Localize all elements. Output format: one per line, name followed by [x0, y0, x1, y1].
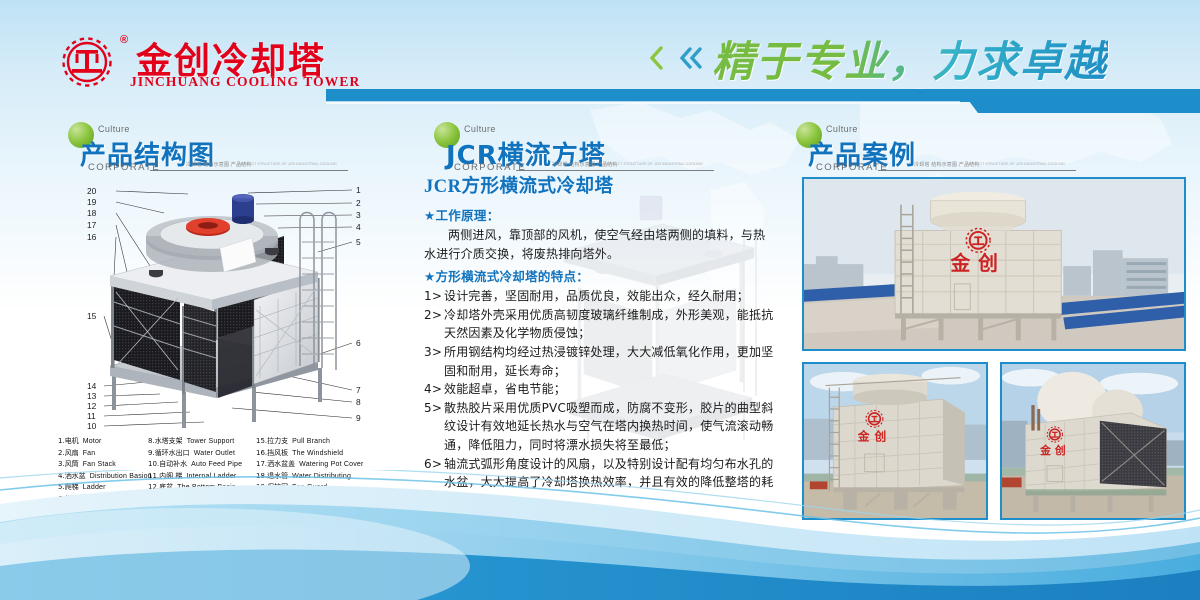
- parts-legend-name-en: Motor: [79, 438, 102, 445]
- brochure-page: ® 金创冷却塔 JINCHUANG COOLING TOWER 精于专业，力求卓…: [0, 0, 1200, 600]
- svg-text:17: 17: [87, 220, 97, 230]
- svg-text:1: 1: [356, 185, 361, 195]
- feature-text: 设计完善，坚固耐用，品质优良，效能出众，经久耐用；: [444, 287, 776, 306]
- svg-text:7: 7: [356, 385, 361, 395]
- header-divider-bar-step: [960, 89, 1200, 113]
- chevron-double-left-icon: [678, 45, 704, 71]
- parts-legend-name-en: Water Outlet: [190, 450, 235, 457]
- feature-item: 2>冷却塔外壳采用优质高韧度玻璃纤维制成，外形美观，能抵抗天然因素及化学物质侵蚀…: [424, 306, 776, 343]
- svg-text:9: 9: [356, 413, 361, 423]
- parts-legend-name-cn: 风筒: [65, 460, 79, 468]
- svg-text:14: 14: [87, 381, 97, 391]
- parts-legend-item: 9.循环水出口Water Outlet: [148, 448, 268, 460]
- parts-legend-item: 16.挡风板The Windshield: [256, 448, 376, 460]
- feature-item: 5>散热胶片采用优质PVC吸塑而成，防腐不变形，胶片的曲型斜纹设计有效地延长热水…: [424, 399, 776, 455]
- working-principle-text: 两侧进风，靠顶部的风机，使空气经由塔两侧的填料，与热水进行介质交换，将废热排向塔…: [424, 226, 776, 263]
- feature-item: 1>设计完善，坚固耐用，品质优良，效能出众，经久耐用；: [424, 287, 776, 306]
- photo-rooftop-illustration: 金创: [804, 179, 1184, 351]
- parts-legend-name-en: Auto Feed Pipe: [187, 461, 242, 468]
- feature-marker: 4>: [424, 380, 444, 399]
- parts-legend-name-cn: 电机: [65, 437, 79, 445]
- gear-emblem-icon: [58, 32, 118, 90]
- section-eyebrow: Culture: [826, 124, 858, 134]
- feature-text: 所用钢结构均经过热浸镀锌处理，大大减低氧化作用，更加坚固和耐用，延长寿命；: [444, 343, 776, 380]
- svg-text:3: 3: [356, 210, 361, 220]
- feature-marker: 1>: [424, 287, 444, 306]
- parts-legend-name-cn: 自动补水: [159, 460, 187, 468]
- section-heading-cases: Culture 产品案例 CORPORATE 冷却塔 结构示意图 产品结构 PR…: [786, 120, 1116, 176]
- parts-legend-name-en: Pull Branch: [288, 438, 330, 445]
- section-rule: [516, 170, 714, 171]
- svg-text:12: 12: [87, 401, 97, 411]
- working-principle-heading: ★工作原理：: [424, 205, 776, 224]
- parts-legend-number: 9.: [148, 449, 155, 457]
- svg-text:13: 13: [87, 391, 97, 401]
- parts-legend-item: 15.拉力支Pull Branch: [256, 436, 376, 448]
- parts-legend-name-en: Tower Support: [183, 438, 235, 445]
- parts-legend-name-cn: 循环水出口: [155, 449, 190, 457]
- chevron-left-icon: [648, 45, 664, 71]
- parts-legend-number: 10.: [148, 460, 159, 468]
- svg-text:15: 15: [87, 311, 97, 321]
- section-eyebrow: Culture: [98, 124, 130, 134]
- header-divider-highlight: [326, 101, 960, 104]
- page-header: ® 金创冷却塔 JINCHUANG COOLING TOWER 精于专业，力求卓…: [0, 0, 1200, 108]
- feature-text: 效能超卓，省电节能；: [444, 380, 776, 399]
- svg-text:金创: 金创: [1039, 444, 1069, 457]
- parts-legend-name-en: The Windshield: [288, 450, 343, 457]
- svg-text:6: 6: [356, 338, 361, 348]
- section-subline-small: PRODUCT STRUCTURE OF JCR INDUSTRIAL COOL…: [604, 162, 703, 166]
- feature-text: 冷却塔外壳采用优质高韧度玻璃纤维制成，外形美观，能抵抗天然因素及化学物质侵蚀；: [444, 306, 776, 343]
- parts-legend-name-en: Fan: [79, 450, 96, 457]
- svg-text:5: 5: [356, 237, 361, 247]
- svg-text:10: 10: [87, 421, 97, 430]
- svg-text:11: 11: [87, 411, 96, 421]
- parts-legend-name-cn: 风扇: [65, 449, 79, 457]
- parts-legend-name-en: Watering Pot Cover: [295, 461, 363, 468]
- svg-text:8: 8: [356, 397, 361, 407]
- features-heading: ★方形横流式冷却塔的特点：: [424, 266, 776, 285]
- jcr-main-title: JCR方形横流式冷却塔: [424, 172, 776, 198]
- feature-text: 散热胶片采用优质PVC吸塑而成，防腐不变形，胶片的曲型斜纹设计有效地延长热水与空…: [444, 399, 776, 455]
- parts-legend-number: 16.: [256, 449, 267, 457]
- svg-text:19: 19: [87, 197, 97, 207]
- decorative-waves: [0, 470, 1200, 600]
- parts-legend-number: 17.: [256, 460, 267, 468]
- feature-marker: 2>: [424, 306, 444, 343]
- feature-item: 3>所用钢结构均经过热浸镀锌处理，大大减低氧化作用，更加坚固和耐用，延长寿命；: [424, 343, 776, 380]
- header-slogan: 精于专业，力求卓越: [712, 28, 1108, 89]
- parts-legend-name-cn: 水塔支架: [155, 437, 183, 445]
- parts-legend-number: 1.: [58, 437, 65, 445]
- parts-legend-item: 8.水塔支架Tower Support: [148, 436, 268, 448]
- section-rule: [878, 170, 1076, 171]
- svg-text:16: 16: [87, 232, 97, 242]
- brand-name-en: JINCHUANG COOLING TOWER: [130, 74, 360, 90]
- parts-legend-name-cn: 挡风板: [267, 449, 288, 457]
- svg-text:金创: 金创: [857, 429, 891, 443]
- parts-legend-number: 2.: [58, 449, 65, 457]
- svg-text:18: 18: [87, 208, 97, 218]
- parts-legend-name-cn: 拉力支: [267, 437, 288, 445]
- parts-legend-name-en: Fan Stack: [79, 461, 116, 468]
- cooling-tower-exploded-diagram: 12 34 56 78 9 2019 1817 1615 1413 1211 1…: [56, 180, 406, 430]
- svg-text:20: 20: [87, 186, 97, 196]
- section-eyebrow: Culture: [464, 124, 496, 134]
- parts-legend-number: 15.: [256, 437, 267, 445]
- feature-marker: 5>: [424, 399, 444, 455]
- section-heading-jcr: Culture JCR横流方塔 CORPORATE 冷却塔 结构示意图 产品结构…: [424, 120, 754, 176]
- section-subline-small: PRODUCT STRUCTURE OF JCR INDUSTRIAL COOL…: [966, 162, 1065, 166]
- registered-trademark-mark: ®: [120, 34, 128, 46]
- section-corporate-label: CORPORATE: [88, 162, 160, 173]
- section-rule: [150, 170, 348, 171]
- section-corporate-label: CORPORATE: [816, 162, 888, 173]
- svg-text:2: 2: [356, 198, 361, 208]
- feature-marker: 3>: [424, 343, 444, 380]
- product-photo-rooftop-tower[interactable]: 金创: [802, 177, 1186, 351]
- parts-legend-number: 3.: [58, 460, 65, 468]
- parts-legend-name-cn: 洒水盆盖: [267, 460, 295, 468]
- feature-item: 4>效能超卓，省电节能；: [424, 380, 776, 399]
- svg-text:4: 4: [356, 222, 361, 232]
- brand-logo[interactable]: ® 金创冷却塔 JINCHUANG COOLING TOWER: [58, 32, 368, 94]
- section-subline-small: PRODUCT STRUCTURE OF JCR INDUSTRIAL COOL…: [238, 162, 337, 166]
- parts-legend-number: 8.: [148, 437, 155, 445]
- section-heading-structure: Culture 产品结构图 CORPORATE 冷却塔 结构示意图 产品结构 P…: [58, 120, 388, 176]
- svg-text:金创: 金创: [949, 252, 1005, 275]
